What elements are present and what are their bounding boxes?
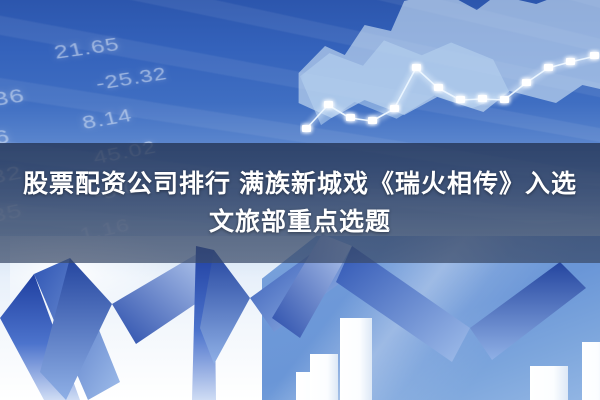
ticker-value: 21.65 [51,33,121,62]
bar-chart [0,300,600,400]
chart-nodes [302,52,599,132]
line-chart [300,0,600,150]
page-title-line-1: 股票配资公司排行 满族新城戏《瑞火相传》入选 [23,168,577,200]
bar [582,342,600,400]
ticker-value: 8.14 [80,104,135,133]
bar [530,366,568,400]
ticker-value: -25.32 [93,62,169,93]
bar-group [296,318,600,400]
bar [310,354,338,400]
banner-image: -02.36 -11.25 45.02 4.36 21.65 -02.36 -1… [0,0,600,400]
title-block: 股票配资公司排行 满族新城戏《瑞火相传》入选 文旅部重点选题 [0,143,600,263]
bar [340,318,372,400]
page-title-line-2: 文旅部重点选题 [209,206,391,238]
